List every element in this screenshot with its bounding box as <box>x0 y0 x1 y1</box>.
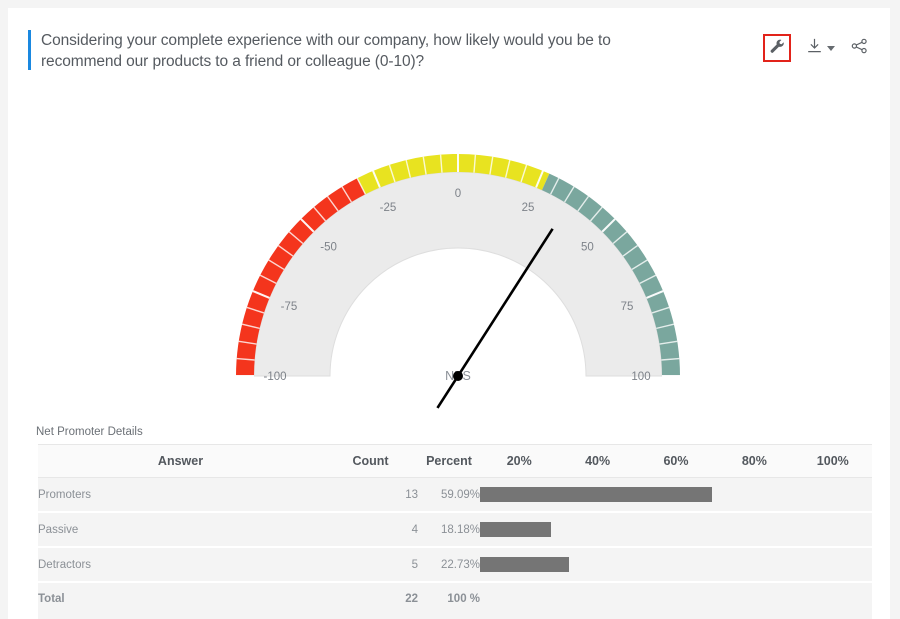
table-head: Answer Count Percent 20% 40% 60% 80% 100… <box>38 445 872 478</box>
column-header-answer: Answer <box>38 445 323 478</box>
download-button[interactable] <box>807 34 835 62</box>
cell-percent: 18.18% <box>418 512 480 547</box>
wrench-icon <box>769 38 785 59</box>
gauge-label-neg50: -50 <box>320 242 337 254</box>
nps-details-table: Answer Count Percent 20% 40% 60% 80% 100… <box>38 444 872 616</box>
gauge-label-neg100: -100 <box>263 371 286 383</box>
cell-answer: Promoters <box>38 478 323 513</box>
table-header-row: Answer Count Percent 20% 40% 60% 80% 100… <box>38 445 872 478</box>
nps-details-table-wrapper: Answer Count Percent 20% 40% 60% 80% 100… <box>38 444 872 616</box>
cell-count: 4 <box>323 512 418 547</box>
gauge-label-25: 25 <box>522 202 535 214</box>
cell-count: 5 <box>323 547 418 582</box>
gauge-label-100: 100 <box>631 371 650 383</box>
table-body: Promoters1359.09%Passive418.18%Detractor… <box>38 478 872 616</box>
nps-gauge: -100-75-50-250255075100 NPS Net Promoter… <box>8 86 890 418</box>
bar-fill <box>480 487 712 502</box>
bar-track <box>480 513 872 546</box>
cell-bar <box>480 478 872 513</box>
bar-track <box>480 478 872 511</box>
share-button[interactable] <box>851 38 868 59</box>
needle-pointer <box>437 229 552 408</box>
scale-tick-60: 60% <box>637 445 715 478</box>
card-header: Considering your complete experience wit… <box>8 8 890 86</box>
gauge-svg: -100-75-50-250255075100 NPS <box>8 86 890 418</box>
scale-tick-80: 80% <box>715 445 793 478</box>
nps-report-card: Considering your complete experience wit… <box>8 8 890 619</box>
bar-fill <box>480 522 551 537</box>
cell-bar <box>480 512 872 547</box>
question-title: Considering your complete experience wit… <box>41 30 681 72</box>
report-page: Considering your complete experience wit… <box>0 0 900 619</box>
gauge-dial-background <box>254 172 662 376</box>
table-row: Detractors522.73% <box>38 547 872 582</box>
table-row: Promoters1359.09% <box>38 478 872 513</box>
gauge-needle <box>437 229 552 408</box>
cell-bar <box>480 547 872 582</box>
bar-track <box>480 548 872 581</box>
gauge-label-50: 50 <box>581 242 594 254</box>
column-header-count: Count <box>323 445 418 478</box>
share-icon <box>851 38 868 59</box>
gauge-label-0: 0 <box>455 188 461 200</box>
scale-tick-40: 40% <box>558 445 636 478</box>
table-footer-spacer <box>38 609 872 619</box>
title-accent-bar <box>28 30 31 70</box>
gauge-dial-arc <box>254 172 662 376</box>
gauge-label-75: 75 <box>621 301 634 313</box>
cell-answer: Detractors <box>38 547 323 582</box>
bar-fill <box>480 557 569 572</box>
card-toolbar <box>763 34 868 62</box>
cell-answer: Passive <box>38 512 323 547</box>
download-icon <box>807 38 822 59</box>
cell-percent: 22.73% <box>418 547 480 582</box>
cell-percent: 59.09% <box>418 478 480 513</box>
settings-button[interactable] <box>763 34 791 62</box>
chevron-down-icon[interactable] <box>827 46 835 51</box>
needle-hub <box>453 371 463 381</box>
cell-count: 13 <box>323 478 418 513</box>
scale-tick-100: 100% <box>794 445 872 478</box>
gauge-label-neg25: -25 <box>380 202 397 214</box>
table-row: Passive418.18% <box>38 512 872 547</box>
scale-tick-20: 20% <box>480 445 558 478</box>
gauge-label-neg75: -75 <box>281 301 298 313</box>
column-header-percent: Percent <box>418 445 480 478</box>
details-caption: Net Promoter Details <box>36 426 143 438</box>
